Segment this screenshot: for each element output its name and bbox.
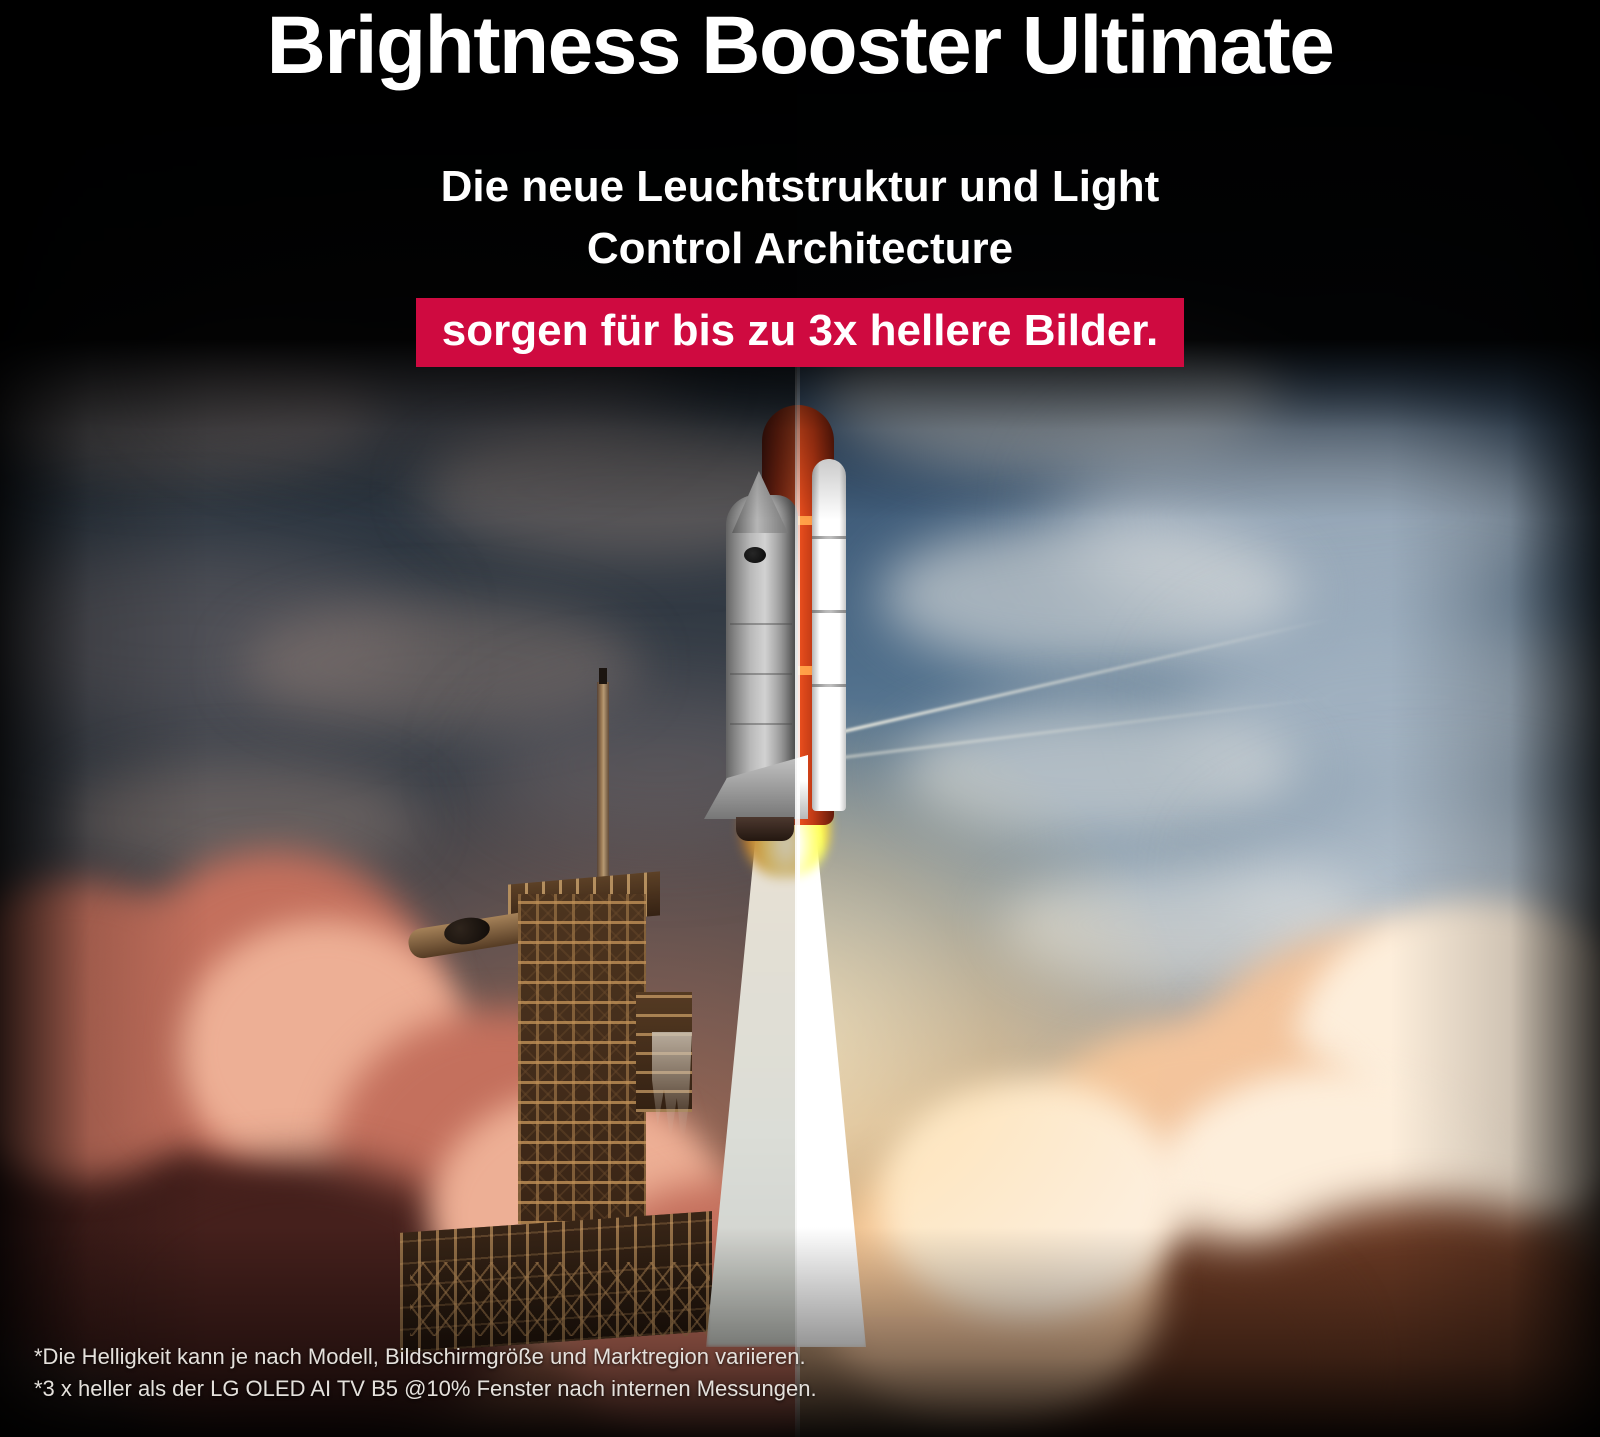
highlight-banner-wrap: sorgen für bis zu 3x hellere Bilder. [0, 298, 1600, 367]
subheadline: Die neue Leuchtstruktur und Light Contro… [0, 156, 1600, 281]
highlight-banner: sorgen für bis zu 3x hellere Bilder. [416, 298, 1184, 367]
footnote-block: *Die Helligkeit kann je nach Modell, Bil… [34, 1341, 817, 1404]
promo-banner: Brightness Booster Ultimate Die neue Leu… [0, 0, 1600, 1437]
subheadline-line-2: Control Architecture [0, 218, 1600, 280]
footnote-line-2: *3 x heller als der LG OLED AI TV B5 @10… [34, 1373, 817, 1404]
text-overlay: Brightness Booster Ultimate Die neue Leu… [0, 0, 1600, 1437]
subheadline-line-1: Die neue Leuchtstruktur und Light [0, 156, 1600, 218]
footnote-line-1: *Die Helligkeit kann je nach Modell, Bil… [34, 1341, 817, 1372]
page-title: Brightness Booster Ultimate [0, 2, 1600, 91]
